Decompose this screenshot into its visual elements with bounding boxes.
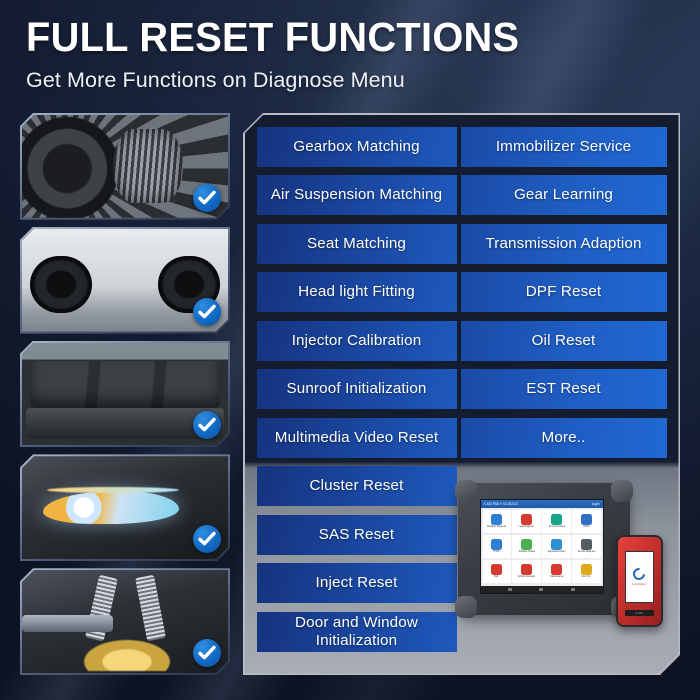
app-tile[interactable]: Remote Diagnose [572, 535, 600, 559]
app-tile[interactable]: ADAS [572, 510, 600, 534]
suspension-assembly-photo [20, 227, 230, 334]
fuel-injectors-photo [20, 568, 230, 675]
app-label: Mall [495, 577, 499, 579]
app-label: Diagnostic History [548, 551, 566, 553]
function-button-injector-calibration[interactable]: Injector Calibration [257, 321, 457, 361]
function-row: Sunroof Initialization EST Reset [257, 369, 667, 409]
page-title: FULL RESET FUNCTIONS [26, 16, 519, 59]
gearbox-transmission-photo [20, 113, 230, 220]
tablet-navbar[interactable] [481, 586, 603, 593]
function-button-air-suspension-matching[interactable]: Air Suspension Matching [257, 175, 457, 215]
camera-icon [576, 490, 586, 492]
function-button-door-and-window-initialization[interactable]: Door and Window Initialization [257, 612, 457, 652]
function-button-more[interactable]: More.. [461, 418, 667, 458]
check-badge-icon [193, 298, 221, 326]
function-row: Seat Matching Transmission Adaption [257, 224, 667, 264]
dongle-screen: LAUNCH [625, 551, 654, 603]
function-row: Head light Fitting DPF Reset [257, 272, 667, 312]
function-button-cluster-reset[interactable]: Cluster Reset [257, 466, 457, 506]
function-button-est-reset[interactable]: EST Reset [461, 369, 667, 409]
app-label: Service Function [548, 526, 564, 528]
function-button-dpf-reset[interactable]: DPF Reset [461, 272, 667, 312]
app-label: Local Diagnose [519, 526, 534, 528]
function-button-gearbox-matching[interactable]: Gearbox Matching [257, 127, 457, 167]
check-badge-icon [193, 184, 221, 212]
app-label: TPMS [494, 551, 500, 553]
function-button-inject-reset[interactable]: Inject Reset [257, 563, 457, 603]
function-row: Air Suspension Matching Gear Learning [257, 175, 667, 215]
vci-dongle: LAUNCH X-431 [616, 535, 663, 627]
photo-column [20, 113, 230, 675]
page-subtitle: Get More Functions on Diagnose Menu [26, 68, 535, 93]
statusbar-title: X-431 PAD V V1.03.013 [484, 502, 518, 506]
function-button-multimedia-video-reset[interactable]: Multimedia Video Reset [257, 418, 457, 458]
function-button-gear-learning[interactable]: Gear Learning [461, 175, 667, 215]
function-button-transmission-adaption[interactable]: Transmission Adaption [461, 224, 667, 264]
brand-logo-icon [631, 565, 648, 582]
tablet-app-grid: Intelligent Diagnose Local Diagnose Serv… [481, 508, 603, 586]
app-tile[interactable]: Local Diagnose [512, 510, 540, 534]
header: FULL RESET FUNCTIONS Get More Functions … [26, 16, 535, 93]
app-label: Intelligent Diagnose [487, 526, 506, 528]
app-label: Maintenance [550, 577, 563, 579]
app-label: Remote Diagnose [578, 551, 596, 553]
app-tile[interactable]: Mall [483, 560, 511, 584]
app-tile[interactable]: Diagnostic History [542, 535, 570, 559]
app-tile[interactable]: Intelligent Diagnose [483, 510, 511, 534]
app-tile[interactable]: Maintenance [542, 560, 570, 584]
dongle-model-label: X-431 [625, 610, 654, 616]
app-tile[interactable]: User Info [572, 560, 600, 584]
function-button-sas-reset[interactable]: SAS Reset [257, 515, 457, 555]
device-illustration: X-431 PAD V V1.03.013 Login Intelligent … [458, 475, 673, 660]
function-button-immobilizer-service[interactable]: Immobilizer Service [461, 127, 667, 167]
car-rear-seats-photo [20, 341, 230, 448]
function-button-head-light-fitting[interactable]: Head light Fitting [257, 272, 457, 312]
check-badge-icon [193, 525, 221, 553]
headlight-photo [20, 454, 230, 561]
app-tile[interactable]: Software Update [512, 535, 540, 559]
function-row: Injector Calibration Oil Reset [257, 321, 667, 361]
function-row: Multimedia Video Reset More.. [257, 418, 667, 458]
app-label: User Info [582, 577, 591, 579]
tablet-screen: X-431 PAD V V1.03.013 Login Intelligent … [480, 499, 604, 594]
poster-root: FULL RESET FUNCTIONS Get More Functions … [0, 0, 700, 700]
diagnostic-tablet: X-431 PAD V V1.03.013 Login Intelligent … [458, 483, 630, 615]
app-label: ADAS [583, 526, 589, 528]
tablet-statusbar: X-431 PAD V V1.03.013 Login [481, 500, 603, 508]
dongle-brand-label: LAUNCH [632, 582, 646, 586]
app-label: Software Update [518, 551, 534, 553]
function-button-sunroof-initialization[interactable]: Sunroof Initialization [257, 369, 457, 409]
statusbar-login: Login [592, 502, 600, 506]
functions-panel: Gearbox Matching Immobilizer Service Air… [243, 113, 680, 675]
app-tile[interactable]: Vehicle Coverage [512, 560, 540, 584]
app-label: Vehicle Coverage [518, 577, 535, 579]
function-button-seat-matching[interactable]: Seat Matching [257, 224, 457, 264]
check-badge-icon [193, 639, 221, 667]
function-button-oil-reset[interactable]: Oil Reset [461, 321, 667, 361]
function-row: Gearbox Matching Immobilizer Service [257, 127, 667, 167]
app-tile[interactable]: TPMS [483, 535, 511, 559]
app-tile[interactable]: Service Function [542, 510, 570, 534]
